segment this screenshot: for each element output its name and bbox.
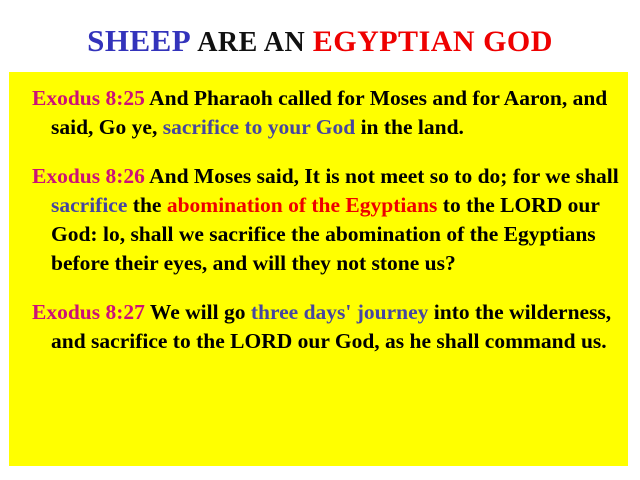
title-part-egyptian-god: EGYPTIAN GOD — [313, 25, 553, 58]
verse-reference: Exodus 8:26 — [32, 164, 145, 188]
page-title: SHEEP ARE AN EGYPTIAN GOD — [0, 24, 640, 60]
slide: SHEEP ARE AN EGYPTIAN GOD Exodus 8:25 An… — [0, 0, 640, 480]
verse-highlight-blue: three days' journey — [251, 300, 429, 324]
verse-text-segment: We will go — [145, 300, 251, 324]
verse-text-segment: in the land. — [355, 115, 464, 139]
verse-highlight-blue: sacrifice — [51, 193, 127, 217]
verse-reference: Exodus 8:25 — [32, 86, 145, 110]
verse-highlight-red: abomination of the Egyptians — [167, 193, 438, 217]
title-part-middle: ARE AN — [191, 27, 312, 58]
verse-text-segment: And Moses said, It is not meet so to do;… — [145, 164, 619, 188]
title-part-sheep: SHEEP — [87, 23, 191, 58]
verse-block-exodus-8-26: Exodus 8:26 And Moses said, It is not me… — [21, 162, 622, 278]
verse-block-exodus-8-27: Exodus 8:27 We will go three days' journ… — [21, 298, 622, 356]
verse-text-segment: the — [127, 193, 166, 217]
scripture-panel: Exodus 8:25 And Pharaoh called for Moses… — [9, 72, 628, 466]
verse-block-exodus-8-25: Exodus 8:25 And Pharaoh called for Moses… — [21, 84, 622, 142]
verse-highlight-blue: sacrifice to your God — [163, 115, 355, 139]
verse-reference: Exodus 8:27 — [32, 300, 145, 324]
